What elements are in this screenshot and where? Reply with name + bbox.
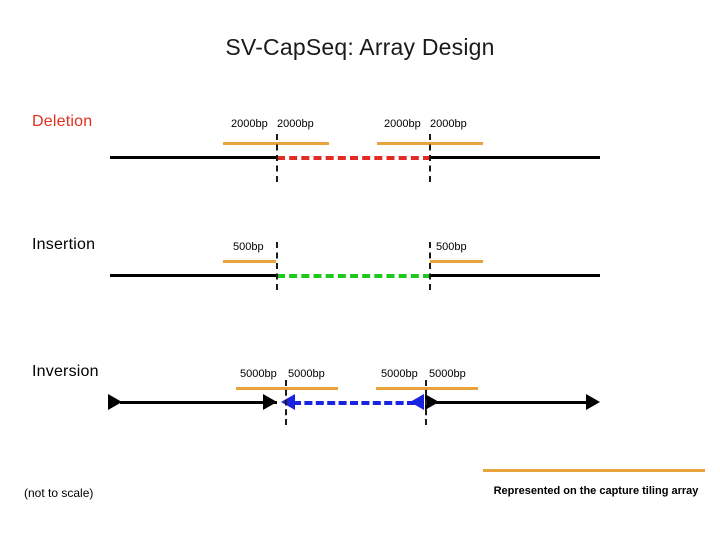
slide-canvas: SV-CapSeq: Array Design Deletion 2000bp … [0, 0, 720, 540]
inversion-arrowhead-far-left [108, 394, 122, 410]
deletion-breakpoint-right [429, 134, 431, 182]
deletion-backbone-left [110, 156, 277, 159]
insertion-breakpoint-left [276, 242, 278, 290]
inversion-arrowhead-right-inner [425, 394, 439, 410]
deletion-row: Deletion 2000bp 2000bp 2000bp 2000bp [0, 105, 720, 225]
inversion-capture-tile-right [376, 387, 478, 390]
insertion-backbone-left [110, 274, 277, 277]
inversion-arrowhead-blue-right [410, 394, 424, 410]
insertion-inserted-segment [277, 274, 431, 278]
inversion-inverted-segment [293, 401, 415, 405]
insertion-tile-label-left: 500bp [233, 241, 264, 253]
deletion-tile-label-left-inner: 2000bp [277, 118, 314, 130]
deletion-tile-label-left-outer: 2000bp [231, 118, 268, 130]
inversion-breakpoint-right [425, 380, 427, 425]
insertion-row-label: Insertion [32, 236, 95, 254]
legend-caption: Represented on the capture tiling array [483, 485, 709, 497]
page-title: SV-CapSeq: Array Design [0, 34, 720, 61]
insertion-tile-label-right: 500bp [436, 241, 467, 253]
deletion-row-label: Deletion [32, 113, 92, 131]
inversion-arrowhead-left-inner [263, 394, 277, 410]
deletion-breakpoint-left [276, 134, 278, 182]
inversion-tile-label-right-outer: 5000bp [429, 368, 466, 380]
inversion-backbone-right [436, 401, 588, 404]
insertion-backbone-right [430, 274, 600, 277]
insertion-capture-tile-right [430, 260, 483, 263]
inversion-row-label: Inversion [32, 363, 99, 381]
insertion-row: Insertion 500bp 500bp [0, 228, 720, 348]
inversion-backbone-left [120, 401, 277, 404]
inversion-breakpoint-left [285, 380, 287, 425]
inversion-tile-label-right-inner: 5000bp [381, 368, 418, 380]
inversion-tile-label-left-inner: 5000bp [288, 368, 325, 380]
inversion-arrowhead-far-right [586, 394, 600, 410]
legend-capture-tile-swatch [483, 469, 705, 472]
not-to-scale-note: (not to scale) [24, 486, 93, 500]
inversion-tile-label-left-outer: 5000bp [240, 368, 277, 380]
inversion-row: Inversion 5000bp 5000bp 5000bp 5000bp [0, 355, 720, 475]
inversion-capture-tile-left [236, 387, 338, 390]
deletion-tile-label-right-inner: 2000bp [384, 118, 421, 130]
deletion-deleted-segment [277, 156, 431, 160]
insertion-breakpoint-right [429, 242, 431, 290]
deletion-tile-label-right-outer: 2000bp [430, 118, 467, 130]
insertion-capture-tile-left [223, 260, 276, 263]
deletion-backbone-right [430, 156, 600, 159]
inversion-arrowhead-blue-left [281, 394, 295, 410]
